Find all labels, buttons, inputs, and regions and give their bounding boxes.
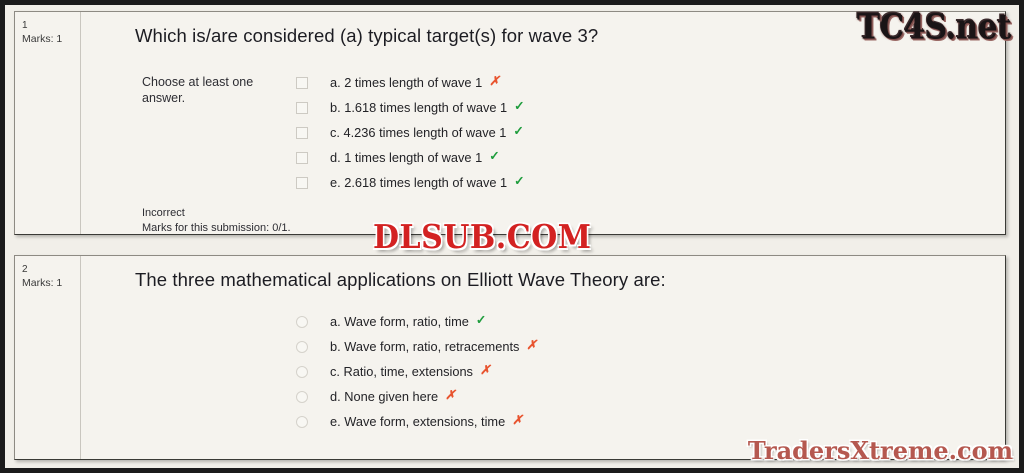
checkbox-icon[interactable]	[296, 77, 308, 89]
question-marks-1: Marks: 1	[22, 32, 80, 46]
question-number-1: 1	[22, 19, 80, 32]
correct-mark-icon: ✓	[476, 314, 486, 327]
answer-label: a. 2 times length of wave 1	[330, 75, 482, 90]
correct-mark-icon: ✓	[514, 100, 524, 113]
answer-label: b. Wave form, ratio, retracements	[330, 339, 519, 354]
answer-option-1d[interactable]: d. 1 times length of wave 1 ✓	[296, 145, 997, 170]
radio-icon[interactable]	[296, 416, 308, 428]
incorrect-mark-icon: ✗	[480, 364, 490, 377]
incorrect-mark-icon: ✗	[489, 75, 499, 88]
answer-option-2d[interactable]: d. None given here ✗	[296, 384, 997, 409]
question-marks-2: Marks: 1	[22, 276, 80, 290]
radio-icon[interactable]	[296, 391, 308, 403]
checkbox-icon[interactable]	[296, 152, 308, 164]
question-info-column-2: 2 Marks: 1	[15, 256, 81, 459]
checkbox-icon[interactable]	[296, 177, 308, 189]
answer-option-1c[interactable]: c. 4.236 times length of wave 1 ✓	[296, 120, 997, 145]
answer-option-2c[interactable]: c. Ratio, time, extensions ✗	[296, 359, 997, 384]
checkbox-icon[interactable]	[296, 102, 308, 114]
answer-option-1b[interactable]: b. 1.618 times length of wave 1 ✓	[296, 95, 997, 120]
answer-label: c. Ratio, time, extensions	[330, 364, 473, 379]
answer-list-1: a. 2 times length of wave 1 ✗ b. 1.618 t…	[296, 70, 997, 195]
answer-option-2e[interactable]: e. Wave form, extensions, time ✗	[296, 409, 997, 434]
answer-list-2: a. Wave form, ratio, time ✓ b. Wave form…	[296, 309, 997, 434]
question-feedback-1: Incorrect Marks for this submission: 0/1…	[142, 206, 291, 235]
answer-label: d. 1 times length of wave 1	[330, 150, 482, 165]
answer-label: b. 1.618 times length of wave 1	[330, 100, 507, 115]
question-title-1: Which is/are considered (a) typical targ…	[135, 25, 598, 47]
answer-label: d. None given here	[330, 389, 438, 404]
answer-option-1a[interactable]: a. 2 times length of wave 1 ✗	[296, 70, 997, 95]
question-block-2: 2 Marks: 1 The three mathematical applic…	[14, 255, 1006, 460]
quiz-surface: 1 Marks: 1 Which is/are considered (a) t…	[5, 5, 1019, 468]
incorrect-mark-icon: ✗	[526, 339, 536, 352]
correct-mark-icon: ✓	[489, 150, 499, 163]
feedback-marks: Marks for this submission: 0/1.	[142, 221, 291, 236]
quiz-review-page: 1 Marks: 1 Which is/are considered (a) t…	[0, 0, 1024, 473]
question-title-2: The three mathematical applications on E…	[135, 269, 666, 291]
correct-mark-icon: ✓	[513, 125, 523, 138]
feedback-status: Incorrect	[142, 206, 291, 221]
answer-option-1e[interactable]: e. 2.618 times length of wave 1 ✓	[296, 170, 997, 195]
answer-option-2a[interactable]: a. Wave form, ratio, time ✓	[296, 309, 997, 334]
radio-icon[interactable]	[296, 341, 308, 353]
question-number-2: 2	[22, 263, 80, 276]
incorrect-mark-icon: ✗	[512, 414, 522, 427]
question-instruction-1: Choose at least one answer.	[142, 74, 292, 106]
question-block-1: 1 Marks: 1 Which is/are considered (a) t…	[14, 11, 1006, 235]
answer-label: c. 4.236 times length of wave 1	[330, 125, 506, 140]
incorrect-mark-icon: ✗	[445, 389, 455, 402]
checkbox-icon[interactable]	[296, 127, 308, 139]
answer-label: a. Wave form, ratio, time	[330, 314, 469, 329]
answer-label: e. 2.618 times length of wave 1	[330, 175, 507, 190]
correct-mark-icon: ✓	[514, 175, 524, 188]
radio-icon[interactable]	[296, 316, 308, 328]
answer-label: e. Wave form, extensions, time	[330, 414, 505, 429]
answer-option-2b[interactable]: b. Wave form, ratio, retracements ✗	[296, 334, 997, 359]
radio-icon[interactable]	[296, 366, 308, 378]
question-info-column-1: 1 Marks: 1	[15, 12, 81, 234]
